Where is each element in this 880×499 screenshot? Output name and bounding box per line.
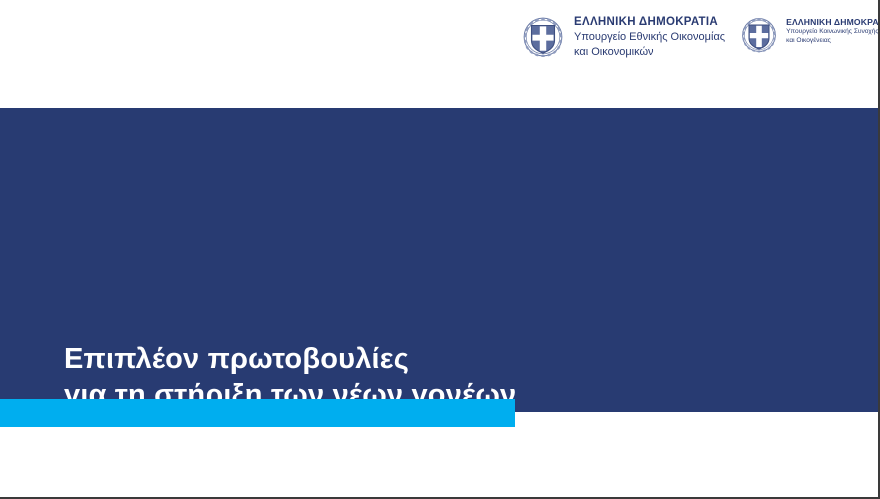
navy-content-panel: Επιπλέον πρωτοβουλίες για τη στήριξη των… xyxy=(0,108,878,412)
ministry-logo-line-2: Υπουργείο Κοινωνικής Συνοχής xyxy=(786,28,880,37)
ministry-logo-national-economy: ΕΛΛΗΝΙΚΗ ΔΗΜΟΚΡΑΤΙΑ Υπουργείο Εθνικής Οι… xyxy=(520,14,725,60)
accent-bar xyxy=(0,399,515,427)
greek-coat-of-arms-icon xyxy=(520,14,566,60)
ministry-logo-text: ΕΛΛΗΝΙΚΗ ΔΗΜΟΚΡΑΤΙΑ Υπουργείο Εθνικής Οι… xyxy=(574,15,725,59)
ministry-logo-line-1: ΕΛΛΗΝΙΚΗ ΔΗΜΟΚΡΑΤΙΑ xyxy=(574,15,725,30)
ministry-logo-social-cohesion: ΕΛΛΗΝΙΚΗ ΔΗΜΟΚΡΑΤΙΑ Υπουργείο Κοινωνικής… xyxy=(739,14,880,55)
ministry-logo-line-3: και Οικονομικών xyxy=(574,45,725,60)
header-band: ΕΛΛΗΝΙΚΗ ΔΗΜΟΚΡΑΤΙΑ Υπουργείο Εθνικής Οι… xyxy=(0,0,880,108)
ministry-logo-line-1: ΕΛΛΗΝΙΚΗ ΔΗΜΟΚΡΑΤΙΑ xyxy=(786,17,880,28)
ministry-logo-line-2: Υπουργείο Εθνικής Οικονομίας xyxy=(574,30,725,45)
ministry-logo-group: ΕΛΛΗΝΙΚΗ ΔΗΜΟΚΡΑΤΙΑ Υπουργείο Εθνικής Οι… xyxy=(520,14,880,60)
slide-title-line-1: Επιπλέον πρωτοβουλίες xyxy=(64,341,516,377)
ministry-logo-line-3: και Οικογένειας xyxy=(786,37,880,46)
slide-canvas: ΕΛΛΗΝΙΚΗ ΔΗΜΟΚΡΑΤΙΑ Υπουργείο Εθνικής Οι… xyxy=(0,0,880,499)
greek-coat-of-arms-icon xyxy=(739,15,779,55)
ministry-logo-text: ΕΛΛΗΝΙΚΗ ΔΗΜΟΚΡΑΤΙΑ Υπουργείο Κοινωνικής… xyxy=(786,17,880,46)
